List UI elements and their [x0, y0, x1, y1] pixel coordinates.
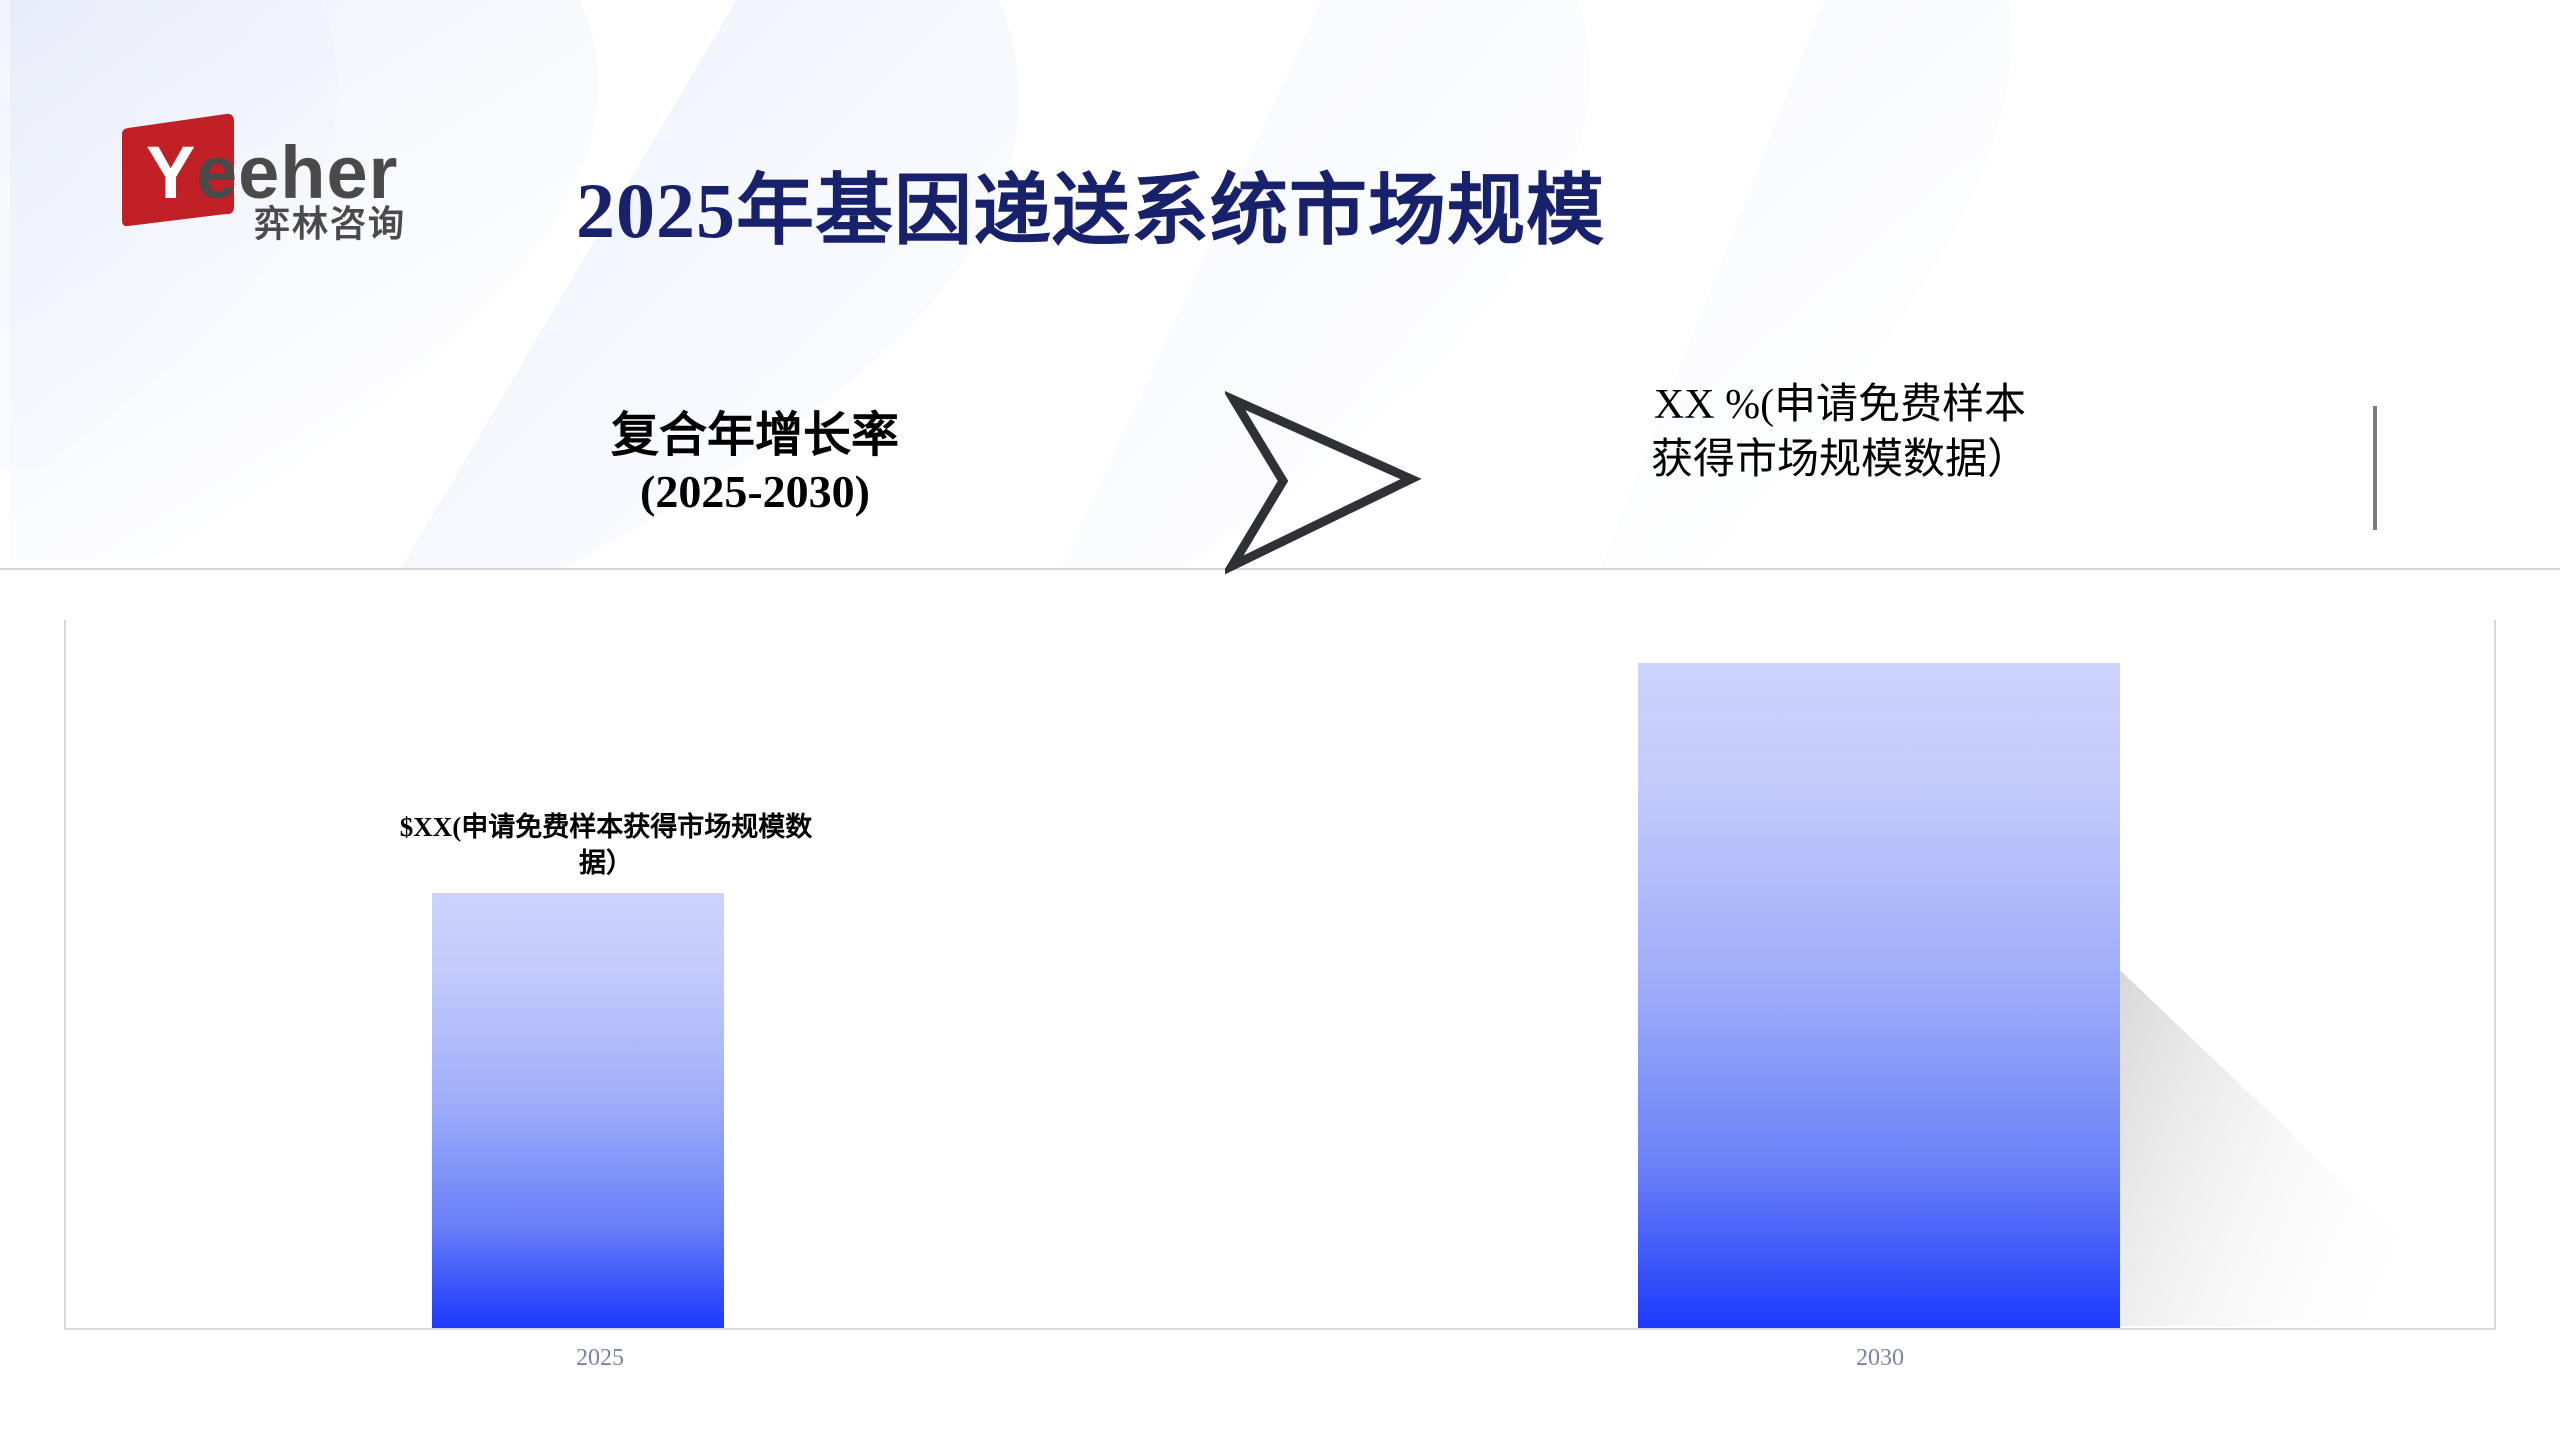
- brand-logo: Y eeher 弈林咨询: [122, 112, 472, 242]
- arrow-right-svg: [1225, 386, 1425, 576]
- cagr-label-block: 复合年增长率 (2025-2030): [545, 408, 965, 519]
- cagr-value-line2: 获得市场规模数据）: [1590, 433, 2090, 488]
- bar-2025: [432, 893, 724, 1328]
- logo-wordmark-cn: 弈林咨询: [254, 203, 406, 242]
- bar-chart: $XX(申请免费样本获得市场规模数据） 2025 2030: [0, 570, 2560, 1440]
- cagr-label-line2: (2025-2030): [545, 465, 965, 519]
- tick-label-2025: 2025: [510, 1345, 690, 1372]
- bar-shadow-2025: [66, 620, 2494, 1328]
- logo-svg: Y eeher 弈林咨询: [122, 112, 472, 242]
- bar-2030: [1638, 663, 2120, 1328]
- cagr-value-block: XX %(申请免费样本 获得市场规模数据）: [1590, 378, 2090, 487]
- tick-label-2030: 2030: [1790, 1345, 1970, 1372]
- arrow-right-icon: [1225, 386, 1425, 576]
- plot-area: $XX(申请免费样本获得市场规模数据）: [64, 620, 2496, 1330]
- vertical-divider: [2373, 406, 2377, 530]
- cagr-value-line1: XX %(申请免费样本: [1590, 378, 2090, 433]
- cagr-label-line1: 复合年增长率: [545, 408, 965, 465]
- page-title: 2025年基因递送系统市场规模: [576, 148, 1605, 260]
- bar-data-label-2025: $XX(申请免费样本获得市场规模数据）: [396, 810, 816, 881]
- logo-initial-y: Y: [146, 131, 195, 214]
- slide-canvas: Y eeher 弈林咨询 2025年基因递送系统市场规模 复合年增长率 (202…: [0, 0, 2560, 1440]
- logo-wordmark: eeher: [196, 131, 398, 214]
